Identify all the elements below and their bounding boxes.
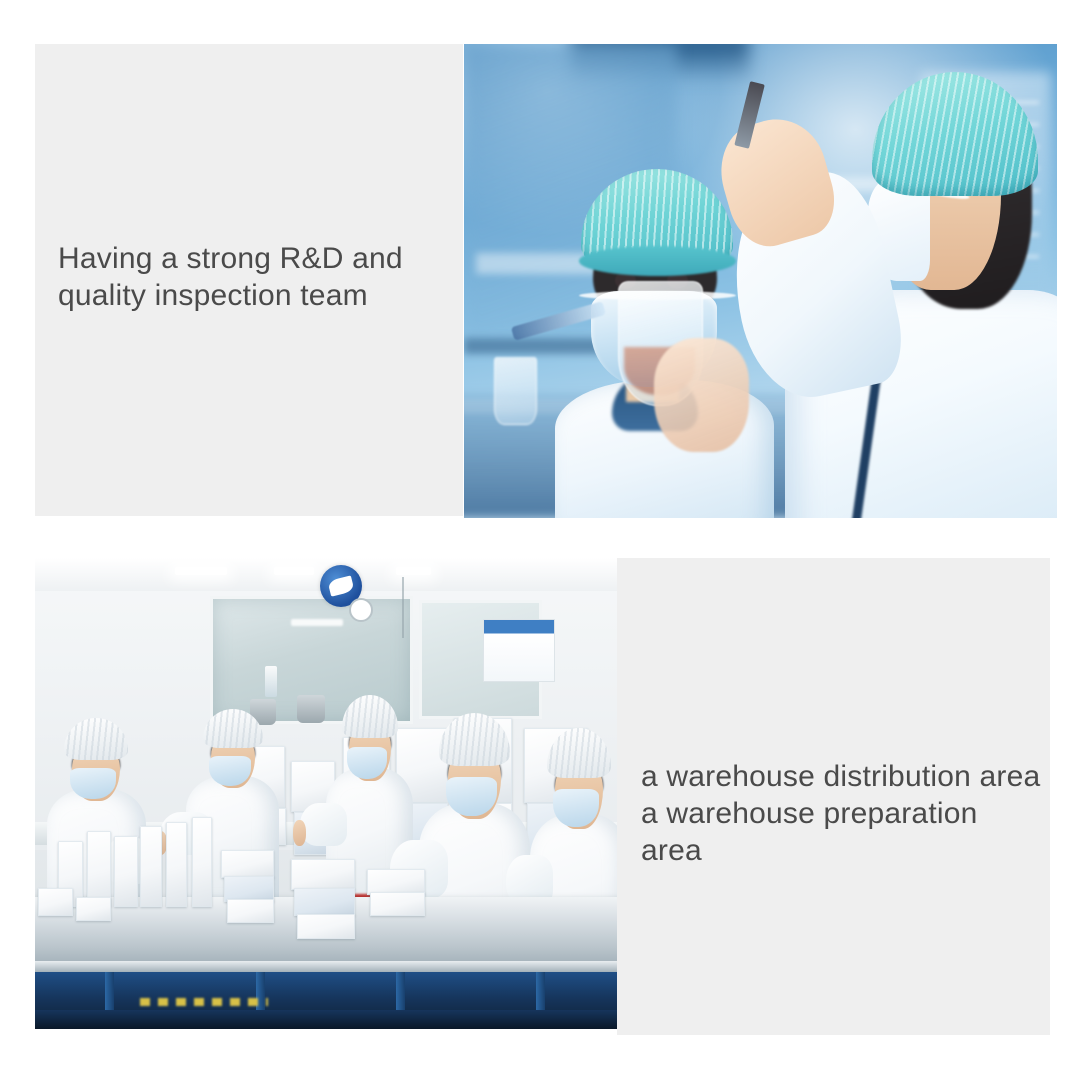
box-stack: [297, 914, 355, 940]
box-stack: [114, 836, 138, 907]
lab-quality-inspection-photo: [464, 44, 1057, 518]
hand: [293, 820, 306, 846]
box-stack: [370, 892, 425, 916]
ceiling-light: [175, 567, 227, 575]
hairnet-cap: [342, 695, 398, 738]
caption-panel-top: Having a strong R&D and quality inspecti…: [35, 44, 463, 516]
caption-text-warehouse-areas: a warehouse distribution area a warehous…: [641, 758, 1046, 869]
hairnet-cap: [547, 728, 610, 779]
box-stack: [224, 876, 273, 902]
hairnet-band: [579, 246, 736, 276]
wall-notice-poster: [483, 619, 555, 682]
box-stack: [367, 869, 425, 895]
box-stack: [166, 822, 187, 907]
box-stack: [87, 831, 110, 906]
lab-small-beaker: [494, 357, 538, 425]
section-top: Having a strong R&D and quality inspecti…: [0, 0, 1080, 540]
box-stack: [227, 899, 274, 923]
box-stack: [140, 826, 162, 906]
box-stack: [38, 888, 73, 916]
window-interior-light: [291, 619, 343, 626]
box-stack: [291, 859, 355, 890]
section-bottom: a warehouse distribution area a warehous…: [0, 540, 1080, 1080]
floor-marking-tape: [140, 998, 268, 1006]
table-edge: [35, 961, 617, 973]
hairnet-cap: [64, 718, 127, 759]
face-mask: [553, 789, 599, 827]
hanging-cord: [402, 577, 404, 638]
ceiling-light: [396, 567, 431, 575]
ceiling-light: [274, 567, 315, 575]
box-stack: [221, 850, 273, 878]
box-stack: [192, 817, 212, 906]
warehouse-floor: [35, 1010, 617, 1029]
warehouse-packing-photo: [35, 558, 617, 1029]
arm: [300, 803, 347, 846]
glass-bottle: [265, 666, 277, 697]
caption-panel-bottom: a warehouse distribution area a warehous…: [617, 558, 1050, 1035]
steel-pot: [297, 695, 325, 723]
caption-text-rnd-team: Having a strong R&D and quality inspecti…: [58, 240, 448, 314]
hairnet-cap: [203, 709, 263, 749]
lab-technician-profile: [761, 72, 1058, 518]
hairnet-cap: [439, 713, 510, 766]
hairnet-cap: [872, 72, 1039, 195]
hand-holding-flask: [654, 338, 749, 452]
box-stack: [294, 888, 355, 916]
box-stack: [76, 897, 111, 921]
